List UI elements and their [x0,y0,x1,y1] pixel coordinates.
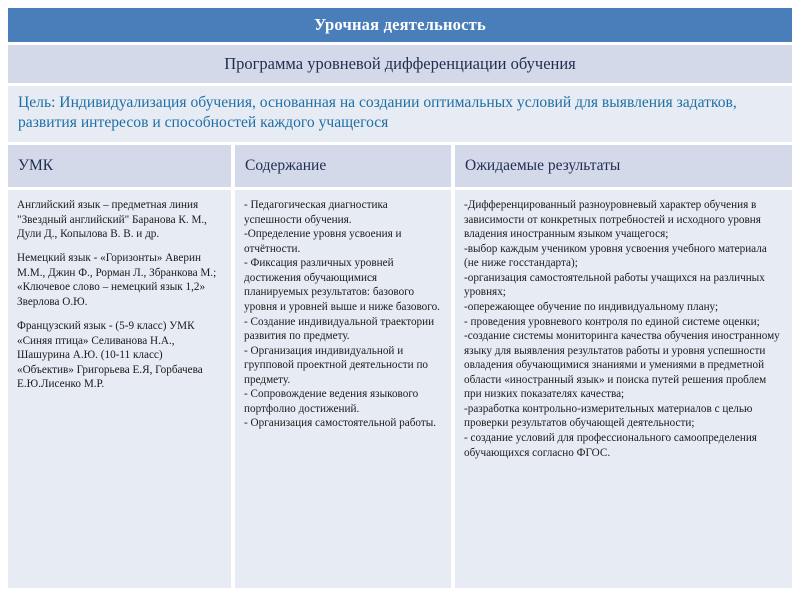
table-header-content: Содержание [235,145,451,187]
table-header-row: УМК Содержание Ожидаемые результаты [8,145,792,187]
slide-canvas: Урочная деятельность Программа уровневой… [0,0,800,600]
goal-text: Цель: Индивидуализация обучения, основан… [18,93,782,133]
program-table: УМК Содержание Ожидаемые результаты Англ… [8,145,792,588]
subtitle-text: Программа уровневой дифференциации обуче… [224,54,576,74]
slide-content: Урочная деятельность Программа уровневой… [8,8,792,588]
banner-title: Урочная деятельность [314,15,486,35]
subtitle-bar: Программа уровневой дифференциации обуче… [8,45,792,83]
table-header-umk: УМК [8,145,231,187]
table-body-row: Английский язык – предметная линия "Звез… [8,190,792,588]
banner-bar: Урочная деятельность [8,8,792,42]
table-cell-content: - Педагогическая диагностика успешности … [235,190,451,588]
goal-bar: Цель: Индивидуализация обучения, основан… [8,86,792,142]
table-cell-umk: Английский язык – предметная линия "Звез… [8,190,231,588]
table-header-results: Ожидаемые результаты [455,145,792,187]
table-cell-results: -Дифференцированный разноуровневый харак… [455,190,792,588]
